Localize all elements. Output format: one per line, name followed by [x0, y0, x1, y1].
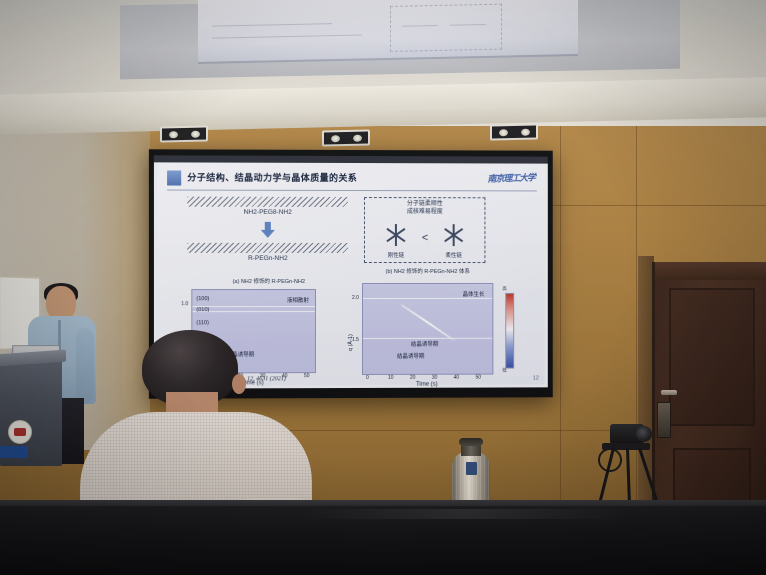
podium-name-plate	[0, 446, 28, 458]
colorbar-top-label: 高	[502, 286, 506, 292]
rigid-chain-caption: 刚性链	[379, 251, 413, 259]
thermos-label-tag	[466, 462, 477, 475]
comparison-title-line1: 分子链柔顺性	[365, 201, 484, 208]
product-label: R-PEGn-NH2	[187, 255, 348, 262]
chart-right-xtick-2: 20	[410, 375, 416, 381]
colorbar	[505, 293, 514, 369]
door-top-rail	[655, 262, 766, 280]
ceiling-spotlight-icon	[490, 123, 538, 140]
camera-lens-icon	[636, 426, 652, 442]
slide-reflection-on-ceiling	[198, 0, 578, 64]
audience-ear	[232, 374, 246, 394]
presenter-head	[46, 286, 76, 320]
title-divider	[167, 190, 537, 192]
table-reflection	[300, 509, 630, 519]
flexible-chain-molecule: 柔性链	[437, 220, 471, 250]
chart-right-xlabel: Time (s)	[362, 382, 491, 388]
panel-a-caption: (a) NH2 修饰的 R-PEGn-NH2	[183, 277, 354, 285]
stainless-thermos	[452, 438, 490, 506]
chart-right-xtick-4: 40	[454, 375, 460, 381]
flexible-chain-caption: 柔性链	[437, 251, 471, 259]
thermos-body	[452, 452, 490, 506]
panel-b-caption: (b) NH2 修饰的 R-PEGn-NH2 体系	[358, 267, 497, 275]
chart-left-annotation-4: 液相散射	[287, 296, 309, 304]
colorbar-bottom-label: 低	[502, 368, 506, 374]
slide-page-number: 12	[533, 375, 539, 381]
chart-right-xtick-5: 50	[476, 375, 482, 381]
title-accent-chip	[167, 170, 181, 185]
podium-emblem	[8, 420, 32, 444]
chart-right-ytick-0: 2.0	[352, 295, 359, 301]
ceiling-spotlight-icon	[322, 129, 370, 146]
lecture-room-photo: 分子结构、结晶动力学与晶体质量的关系 南京理工大学 NH2-PEG8-NH2 R…	[0, 0, 766, 575]
chemical-scheme: NH2-PEG8-NH2 R-PEGn-NH2	[187, 195, 348, 275]
rigid-chain-molecule: 刚性链	[379, 220, 413, 250]
chart-left-annotation-2: (010)	[196, 307, 209, 313]
crystal-growth-streak-2	[402, 305, 452, 339]
chart-left-ytick-0: 1.0	[181, 301, 188, 307]
university-logo: 南京理工大学	[471, 167, 535, 187]
chart-right-xtick-1: 10	[388, 375, 394, 381]
podium	[0, 360, 62, 466]
chart-right-annotation-2: 结晶诱导期	[411, 340, 438, 348]
flexibility-comparison-box: 分子链柔顺性 成核难易程度 刚性链 < 柔性链	[364, 197, 485, 263]
reaction-arrow-icon	[261, 222, 275, 238]
page-title: 分子结构、结晶动力学与晶体质量的关系	[187, 171, 357, 185]
door-upper-panel	[669, 288, 755, 426]
slide-header: 分子结构、结晶动力学与晶体质量的关系 南京理工大学	[167, 168, 537, 191]
reagent-label: NH2-PEG8-NH2	[187, 209, 348, 216]
chart-right-ylabel: q (Å-1)	[348, 334, 354, 351]
chart-right-xtick-0: 0	[366, 375, 369, 381]
less-than-symbol: <	[422, 232, 428, 244]
ceiling-spotlight-icon	[160, 125, 208, 142]
chart-left-annotation-1: (100)	[196, 296, 209, 302]
door-handle[interactable]	[661, 390, 677, 395]
chart-right-annotation-1: 晶体生长	[463, 290, 485, 298]
chart-right-xtick-3: 30	[432, 375, 438, 381]
chart-left-annotation-3: (110)	[196, 320, 209, 326]
wooden-door[interactable]	[652, 262, 766, 520]
chart-right: 晶体生长 结晶诱导期 结晶诱导期	[362, 283, 493, 375]
thermos-cap	[459, 438, 483, 446]
chart-right-region-label: 结晶诱导期	[397, 352, 424, 360]
comparison-title-line2: 成核难易程度	[365, 209, 484, 216]
